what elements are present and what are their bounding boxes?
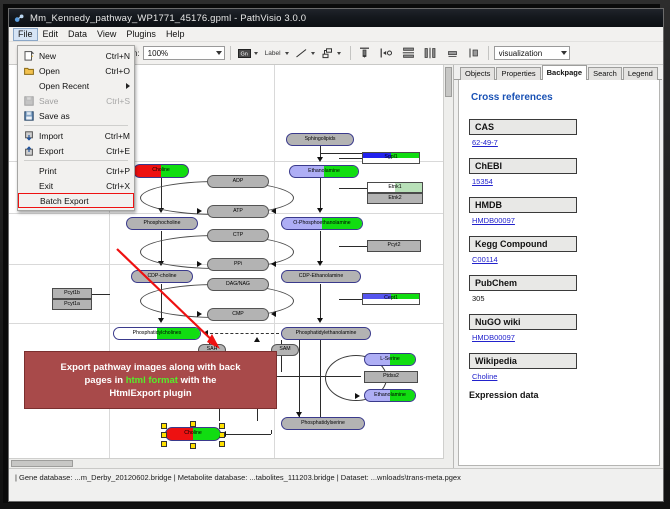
resize-handle[interactable] [219, 441, 225, 447]
resize-handle[interactable] [190, 443, 196, 449]
xref-value-hmdb[interactable]: HMDB00097 [472, 216, 659, 225]
arrow-icon [271, 208, 276, 214]
callout-line-2b: with the [178, 375, 217, 386]
xref-value-chebi[interactable]: 15354 [472, 177, 659, 186]
canvas-vertical-scrollbar[interactable] [443, 65, 453, 468]
pathway-node-dag-nag[interactable]: DAG/NAG [207, 278, 269, 291]
xref-value-nugo-wiki[interactable]: HMDB00097 [472, 333, 659, 342]
toolbar-separator [350, 46, 351, 60]
file-menu-item-exit[interactable]: ExitCtrl+X [18, 178, 134, 193]
node-label: CMP [232, 312, 244, 317]
node-label: ATP [233, 209, 243, 214]
file-menu-item-label: Exit [35, 181, 100, 191]
gene-label: Etnk1 [388, 185, 401, 190]
new-file-icon [22, 51, 35, 61]
cross-references-heading: Cross references [471, 92, 659, 103]
gene-label: Etnk2 [388, 196, 401, 201]
node-label: O-Phosphoethanolamine [293, 221, 350, 226]
scrollbar-thumb[interactable] [445, 67, 452, 97]
canvas-horizontal-scrollbar[interactable] [9, 458, 444, 468]
xref-header-pubchem: PubChem [469, 275, 577, 291]
chevron-down-icon [216, 51, 222, 55]
arrow-icon [158, 318, 164, 323]
resize-handle[interactable] [161, 441, 167, 447]
edge [320, 231, 321, 264]
pathway-node-adp[interactable]: ADP [207, 175, 269, 188]
pathway-node-l-serine[interactable]: L-Serine [364, 353, 416, 366]
file-menu-item-label: Save as [35, 111, 130, 121]
edge [299, 340, 300, 418]
file-menu-item-save: SaveCtrl+S [18, 93, 134, 108]
scrollbar-thumb[interactable] [11, 460, 73, 467]
file-menu-item-open-recent[interactable]: Open Recent [18, 78, 134, 93]
file-menu-item-shortcut: Ctrl+P [100, 166, 130, 176]
gene-box-icon[interactable]: Gn [237, 46, 252, 61]
edge [92, 294, 110, 295]
screenshot-root: Mm_Kennedy_pathway_WP1771_45176.gpml - P… [0, 0, 670, 509]
tab-objects[interactable]: Objects [460, 67, 495, 80]
pathway-node-sphingolipids[interactable]: Sphingolipids [286, 133, 354, 146]
edge [339, 188, 368, 189]
resize-handle[interactable] [161, 423, 167, 429]
gene-label: Cept1 [384, 296, 398, 301]
menu-file[interactable]: File [13, 28, 38, 41]
gene-label: Pcyt2 [388, 243, 401, 248]
label-button[interactable]: Label [262, 48, 284, 59]
gene-label: Sgpl1 [384, 155, 397, 160]
xref-header-cas: CAS [469, 119, 577, 135]
node-label: SAM [279, 347, 290, 352]
stack-horizontal-icon[interactable] [423, 46, 438, 61]
file-menu-item-label: Open [35, 66, 99, 76]
pathway-node-cmp[interactable]: CMP [207, 308, 269, 321]
align-top-icon[interactable] [357, 46, 372, 61]
menu-edit[interactable]: Edit [38, 28, 64, 41]
node-label: CDP-choline [147, 274, 176, 279]
file-menu-item-label: Print [35, 166, 100, 176]
menu-help[interactable]: Help [161, 28, 190, 41]
node-label: Sphingolipids [305, 137, 336, 142]
edge [339, 299, 363, 300]
gene-node-ptdss2[interactable]: Ptdss2 [364, 371, 418, 383]
file-menu-item-label: Batch Export [36, 196, 129, 206]
file-menu-item-label: Export [35, 146, 100, 156]
file-menu-item-shortcut: Ctrl+E [100, 146, 130, 156]
edge [320, 178, 321, 211]
chevron-right-icon [126, 83, 130, 89]
node-label: L-Serine [380, 357, 400, 362]
arrow-icon [197, 208, 202, 214]
xref-header-kegg-compound: Kegg Compound [469, 236, 577, 252]
backpage-content: Cross references CAS62-49-7ChEBI15354HMD… [458, 80, 660, 466]
file-menu-item-save-as[interactable]: Save as [18, 108, 134, 123]
edge [223, 434, 271, 435]
file-menu-item-label: Import [35, 131, 99, 141]
edge [320, 153, 362, 154]
callout-line-3: HtmlExport plugin [109, 388, 191, 399]
annotation-callout: Export pathway images along with back pa… [24, 351, 277, 409]
node-label: CTP [233, 233, 243, 238]
import-icon [22, 131, 35, 141]
menu-divider [24, 125, 128, 126]
pathvisio-window: Mm_Kennedy_pathway_WP1771_45176.gpml - P… [8, 8, 664, 502]
arrow-icon [271, 311, 276, 317]
chevron-down-icon[interactable] [254, 52, 258, 55]
pathway-node-phosphatidylethanolamine[interactable]: Phosphatidylethanolamine [281, 327, 371, 340]
file-menu-item-label: Save [35, 96, 100, 106]
xref-value-wikipedia[interactable]: Choline [472, 372, 659, 381]
cross-reference-list: CAS62-49-7ChEBI15354HMDBHMDB00097Kegg Co… [469, 117, 659, 381]
node-label: Choline [152, 168, 170, 173]
visualization-combobox[interactable]: visualization [494, 46, 570, 60]
gene-node-etnk2[interactable]: Etnk2 [367, 193, 423, 204]
xref-header-hmdb: HMDB [469, 197, 577, 213]
arrow-icon [197, 261, 202, 267]
svg-text:Gn: Gn [240, 51, 247, 57]
tab-search[interactable]: Search [588, 67, 622, 80]
expression-data-heading: Expression data [469, 390, 659, 400]
callout-highlight: html format [126, 375, 178, 386]
common-height-icon[interactable] [467, 46, 482, 61]
gene-label: Ptdss2 [383, 374, 399, 379]
edge [320, 340, 321, 418]
folder-open-icon [22, 66, 35, 76]
gene-node-cept1[interactable]: Cept1 [362, 293, 420, 305]
callout-line-1: Export pathway images along with back [60, 362, 240, 373]
pathway-node-phosphatidylcholines[interactable]: Phosphatidylcholines [113, 327, 201, 340]
arrow-icon [317, 318, 323, 323]
node-label: Ethanolamine [308, 169, 340, 174]
visualization-value: visualization [499, 49, 543, 58]
pathway-node-choline-top[interactable]: Choline [133, 164, 189, 178]
node-label: Phosphocholine [144, 221, 181, 226]
pathway-node-ethanolamine-r[interactable]: Ethanolamine [364, 389, 416, 402]
file-menu-item-shortcut: Ctrl+S [100, 96, 130, 106]
pathway-node-phosphatidylserine[interactable]: Phosphatidylserine [281, 417, 365, 430]
xref-header-nugo-wiki: NuGO wiki [469, 314, 577, 330]
menu-view[interactable]: View [92, 28, 121, 41]
edge [339, 158, 363, 159]
pathway-node-cdp-choline[interactable]: CDP-choline [131, 270, 193, 283]
export-icon [22, 146, 35, 156]
side-panel: Objects Properties Backpage Search Legen… [454, 65, 662, 468]
pathway-node-ethanolamine-top[interactable]: Ethanolamine [289, 165, 359, 178]
pathway-node-atp[interactable]: ATP [207, 205, 269, 218]
gene-node-pcyt1b[interactable]: Pcyt1b [52, 288, 92, 299]
file-menu-item-shortcut: Ctrl+M [99, 131, 130, 141]
edge [205, 333, 279, 334]
file-menu-item-open[interactable]: OpenCtrl+O [18, 63, 134, 78]
tab-properties[interactable]: Properties [496, 67, 540, 80]
arrow-icon [197, 311, 202, 317]
file-menu-item-new[interactable]: NewCtrl+N [18, 48, 134, 63]
statusbar: | Gene database: ...m_Derby_20120602.bri… [9, 468, 663, 486]
edge [320, 284, 321, 321]
side-panel-tabs: Objects Properties Backpage Search Legen… [454, 65, 662, 80]
xref-value-kegg-compound[interactable]: C00114 [472, 255, 659, 264]
chevron-down-icon[interactable] [337, 52, 341, 55]
stack-vertical-icon[interactable] [401, 46, 416, 61]
node-label: PPi [234, 262, 242, 267]
window-titlebar: Mm_Kennedy_pathway_WP1771_45176.gpml - P… [9, 9, 663, 27]
file-menu-item-print[interactable]: PrintCtrl+P [18, 163, 134, 178]
pathway-node-ppi[interactable]: PPi [207, 258, 269, 271]
menubar: File Edit Data View Plugins Help [9, 27, 663, 42]
resize-handle[interactable] [190, 421, 196, 427]
align-left-icon[interactable] [379, 46, 394, 61]
node-label: SAH [207, 347, 218, 352]
arrow-icon [317, 208, 323, 213]
save-icon [22, 96, 35, 106]
gene-label: Pcyt1b [64, 291, 80, 296]
node-label: Ethanolamine [374, 393, 406, 398]
file-menu-item-batch-export[interactable]: Batch Export [18, 193, 134, 208]
edge [339, 246, 368, 247]
line-icon[interactable] [294, 46, 309, 61]
pathway-node-phosphocholine[interactable]: Phosphocholine [126, 217, 198, 230]
file-menu-item-label: Open Recent [35, 81, 122, 91]
interaction-icon[interactable] [320, 46, 335, 61]
file-menu-popup[interactable]: NewCtrl+NOpenCtrl+OOpen RecentSaveCtrl+S… [17, 45, 135, 211]
xref-value-cas[interactable]: 62-49-7 [472, 138, 659, 147]
xref-header-wikipedia: Wikipedia [469, 353, 577, 369]
edge [271, 430, 272, 434]
file-menu-item-shortcut: Ctrl+X [100, 181, 130, 191]
pathway-node-choline-sel[interactable]: Choline [165, 427, 221, 441]
file-menu-item-shortcut: Ctrl+N [100, 51, 130, 61]
chevron-down-icon[interactable] [285, 52, 289, 55]
gene-node-pcyt1a[interactable]: Pcyt1a [52, 299, 92, 310]
node-label: DAG/NAG [226, 282, 250, 287]
arrow-icon [355, 393, 360, 399]
file-menu-item-import[interactable]: ImportCtrl+M [18, 128, 134, 143]
statusbar-text: | Gene database: ...m_Derby_20120602.bri… [15, 473, 461, 482]
zoom-value: 100% [148, 49, 168, 58]
pathway-node-cdp-ethanolamine[interactable]: CDP-Ethanolamine [281, 270, 361, 283]
gene-node-sgpl1[interactable]: Sgpl1 [362, 152, 420, 164]
arrow-icon [203, 330, 208, 336]
save-as-icon [22, 111, 35, 121]
node-label: Choline [184, 431, 202, 436]
chevron-down-icon [561, 51, 567, 55]
toolbar-separator [488, 46, 489, 60]
pathway-node-o-phosphoethanolamine[interactable]: O-Phosphoethanolamine [281, 217, 363, 230]
node-label: Phosphatidylethanolamine [296, 331, 357, 336]
menu-data[interactable]: Data [63, 28, 92, 41]
node-label: Phosphatidylserine [301, 421, 345, 426]
menu-plugins[interactable]: Plugins [121, 28, 161, 41]
chevron-down-icon[interactable] [311, 52, 315, 55]
pathvisio-icon [14, 13, 25, 24]
gene-node-etnk1[interactable]: Etnk1 [367, 182, 423, 193]
arrow-icon [254, 337, 260, 342]
xref-header-chebi: ChEBI [469, 158, 577, 174]
gene-node-pcyt2[interactable]: Pcyt2 [367, 240, 421, 252]
toolbar-separator [230, 46, 231, 60]
callout-line-2a: pages in [85, 375, 126, 386]
pathway-node-ctp[interactable]: CTP [207, 229, 269, 242]
arrow-icon [271, 261, 276, 267]
node-label: CDP-Ethanolamine [299, 274, 343, 279]
page-rule [9, 323, 453, 324]
file-menu-item-shortcut: Ctrl+O [99, 66, 130, 76]
arrow-icon [317, 157, 323, 162]
common-width-icon[interactable] [445, 46, 460, 61]
tab-backpage[interactable]: Backpage [542, 65, 587, 81]
zoom-combobox[interactable]: 100% [143, 46, 225, 60]
file-menu-item-label: New [35, 51, 100, 61]
tab-legend[interactable]: Legend [623, 67, 658, 80]
window-title: Mm_Kennedy_pathway_WP1771_45176.gpml - P… [30, 13, 306, 24]
resize-handle[interactable] [161, 432, 167, 438]
menu-divider [24, 160, 128, 161]
node-label: Phosphatidylcholines [133, 331, 182, 336]
node-label: ADP [233, 179, 244, 184]
gene-label: Pcyt1a [64, 302, 80, 307]
file-menu-item-export[interactable]: ExportCtrl+E [18, 143, 134, 158]
arrow-icon [317, 261, 323, 266]
xref-value-pubchem: 305 [472, 294, 659, 303]
